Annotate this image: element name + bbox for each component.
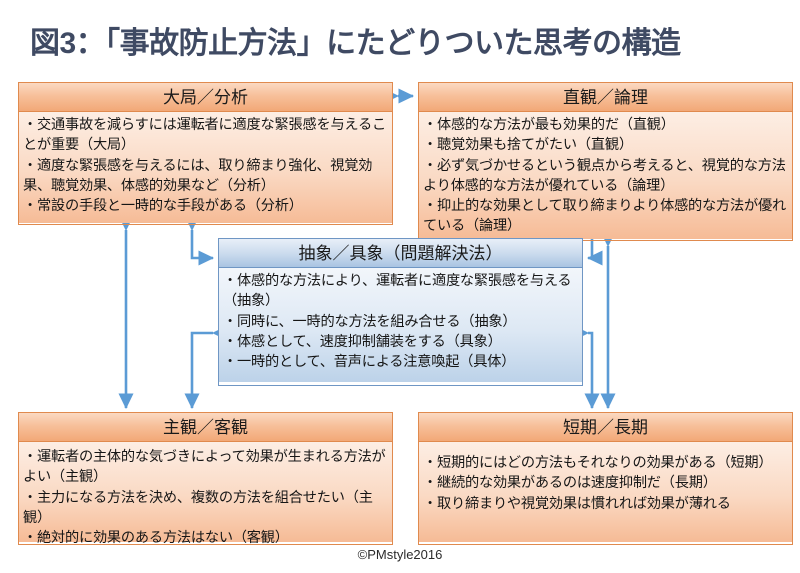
diagram-canvas: 図3：「事故防止方法」にたどりついた思考の構造 <box>0 0 800 573</box>
bullet-item: ・継続的な効果があるのは速度抑制だ（長期） <box>423 473 787 493</box>
bullet-item: ・常設の手段と一時的な手段がある（分析） <box>23 196 387 216</box>
box-body-intuition-logic: ・体感的な方法が最も効果的だ（直観） ・聴覚効果も捨てがたい（直観） ・必ず気づ… <box>419 112 792 239</box>
box-global-analysis[interactable]: 大局／分析 ・交通事故を減らすには運転者に適度な緊張感を与えることが重要（大局）… <box>18 82 393 225</box>
bullet-item: ・短期的にはどの方法もそれなりの効果がある（短期） <box>423 453 787 473</box>
box-header-subjective-objective: 主観／客観 <box>19 413 392 442</box>
box-body-abstract-concrete: ・体感的な方法により、運転者に適度な緊張感を与える（抽象） ・同時に、一時的な方… <box>219 268 582 382</box>
box-header-intuition-logic: 直観／論理 <box>419 83 792 112</box>
bullet-item: ・一時的として、音声による注意喚起（具体） <box>223 352 577 372</box>
bullet-item: ・交通事故を減らすには運転者に適度な緊張感を与えることが重要（大局） <box>23 115 387 155</box>
bullet-item: ・主力になる方法を決め、複数の方法を組合せたい（主観） <box>23 488 387 528</box>
arrow-top-left-to-center <box>192 230 213 258</box>
box-header-global-analysis: 大局／分析 <box>19 83 392 112</box>
bullet-item: ・絶対的に効果のある方法はない（客観） <box>23 528 387 548</box>
arrow-center-to-bottom-right <box>588 333 592 408</box>
box-header-short-long-term: 短期／長期 <box>419 413 792 442</box>
arrow-center-to-bottom-left <box>192 333 213 408</box>
bullet-item: ・抑止的な効果として取り締まりより体感的な方法が優れている（論理） <box>423 196 787 236</box>
bullet-item: ・体感的な方法が最も効果的だ（直観） <box>423 115 787 135</box>
box-intuition-logic[interactable]: 直観／論理 ・体感的な方法が最も効果的だ（直観） ・聴覚効果も捨てがたい（直観）… <box>418 82 793 241</box>
bullet-item: ・体感として、速度抑制舗装をする（具象） <box>223 332 577 352</box>
copyright-notice: ©PMstyle2016 <box>0 547 800 562</box>
box-body-subjective-objective: ・運転者の主体的な気づきによって効果が生まれる方法がよい（主観） ・主力になる方… <box>19 442 392 542</box>
bullet-item: ・体感的な方法により、運転者に適度な緊張感を与える（抽象） <box>223 271 577 311</box>
bullet-item: ・必ず気づかせるという観点から考えると、視覚的な方法より体感的な方法が優れている… <box>423 156 787 196</box>
box-header-abstract-concrete: 抽象／具象（問題解決法） <box>219 239 582 268</box>
box-body-global-analysis: ・交通事故を減らすには運転者に適度な緊張感を与えることが重要（大局） ・適度な緊… <box>19 112 392 223</box>
bullet-item: ・取り締まりや視覚効果は慣れれば効果が薄れる <box>423 494 787 514</box>
bullet-item: ・適度な緊張感を与えるには、取り締まり強化、視覚効果、聴覚効果、体感的効果など（… <box>23 156 387 196</box>
box-body-short-long-term: ・短期的にはどの方法もそれなりの効果がある（短期） ・継続的な効果があるのは速度… <box>419 442 792 542</box>
bullet-item: ・聴覚効果も捨てがたい（直観） <box>423 135 787 155</box>
box-short-long-term[interactable]: 短期／長期 ・短期的にはどの方法もそれなりの効果がある（短期） ・継続的な効果が… <box>418 412 793 545</box>
bullet-item: ・運転者の主体的な気づきによって効果が生まれる方法がよい（主観） <box>23 447 387 487</box>
box-abstract-concrete[interactable]: 抽象／具象（問題解決法） ・体感的な方法により、運転者に適度な緊張感を与える（抽… <box>218 238 583 386</box>
box-subjective-objective[interactable]: 主観／客観 ・運転者の主体的な気づきによって効果が生まれる方法がよい（主観） ・… <box>18 412 393 545</box>
bullet-item: ・同時に、一時的な方法を組み合せる（抽象） <box>223 312 577 332</box>
